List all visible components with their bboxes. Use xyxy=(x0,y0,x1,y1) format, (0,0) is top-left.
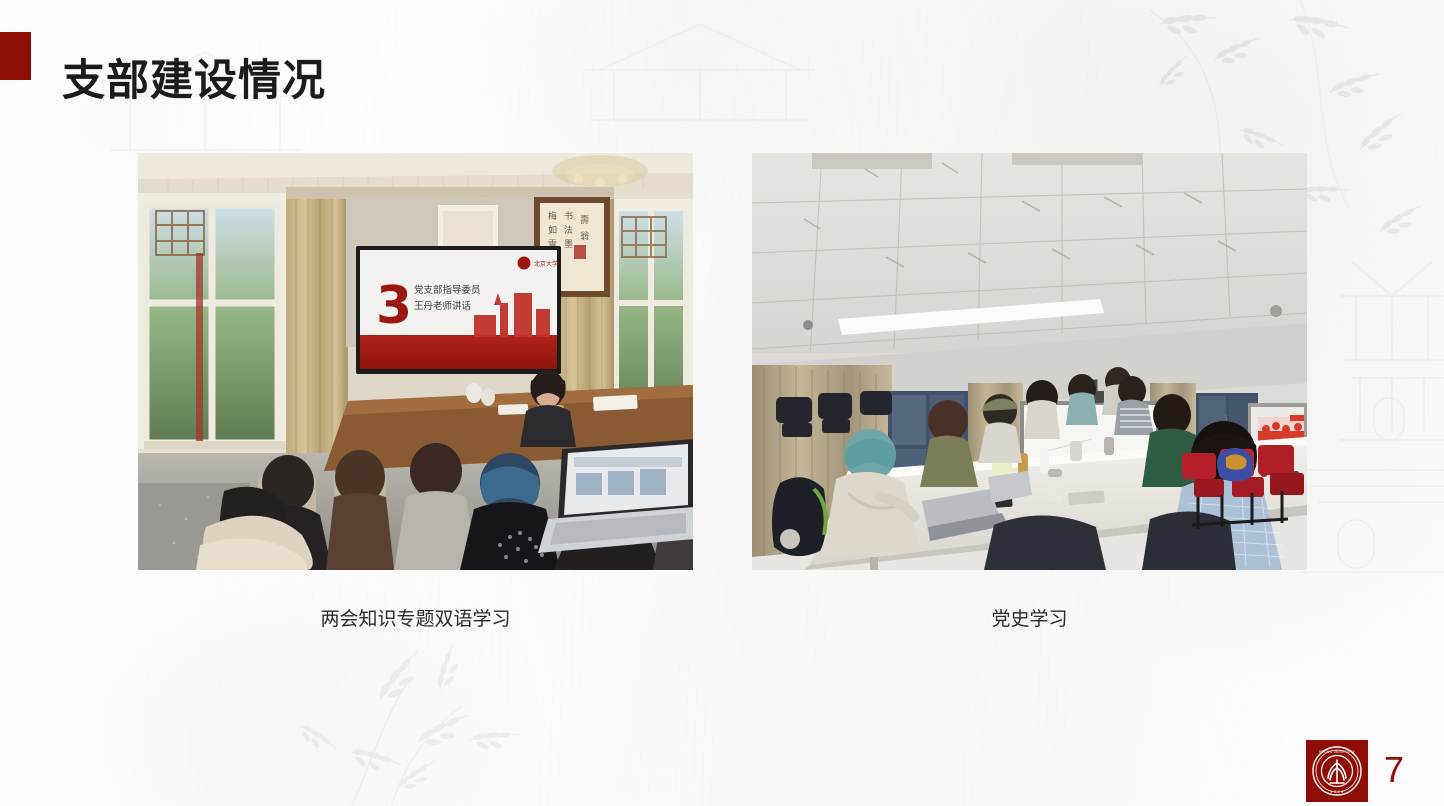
svg-text:如: 如 xyxy=(548,224,557,236)
svg-text:梅: 梅 xyxy=(548,210,557,222)
svg-text:书: 书 xyxy=(564,211,573,222)
svg-text:王丹老师讲话: 王丹老师讲话 xyxy=(414,300,472,312)
svg-text:3: 3 xyxy=(376,276,412,336)
svg-text:党支部指导委员: 党支部指导委员 xyxy=(414,284,481,296)
slide-canvas: 支部建设情况 xyxy=(0,0,1444,806)
svg-text:1 8 9 8: 1 8 9 8 xyxy=(1331,790,1344,794)
page-number: 7 xyxy=(1384,752,1404,788)
photo-classroom-party-history-study xyxy=(752,153,1307,570)
photo-caption-right: 党史学习 xyxy=(752,604,1307,631)
photo-caption-left: 两会知识专题双语学习 xyxy=(138,604,693,631)
title-accent-bar xyxy=(0,32,31,80)
peking-university-logo-icon: PEKING UNIVERSITY 1 8 9 8 xyxy=(1306,740,1368,802)
svg-text:墨: 墨 xyxy=(564,239,573,250)
page-title: 支部建设情况 xyxy=(62,57,326,106)
svg-text:北京大学: 北京大学 xyxy=(534,260,558,268)
svg-text:PEKING UNIVERSITY: PEKING UNIVERSITY xyxy=(1319,750,1355,754)
svg-text:壽: 壽 xyxy=(580,214,589,226)
svg-text:法: 法 xyxy=(564,224,573,236)
svg-text:翁: 翁 xyxy=(580,230,589,242)
photo-meeting-room-bilingual-study: 梅如雪 书法墨 壽翁 3 党支部指导委员 王丹老师讲话 xyxy=(138,153,693,570)
